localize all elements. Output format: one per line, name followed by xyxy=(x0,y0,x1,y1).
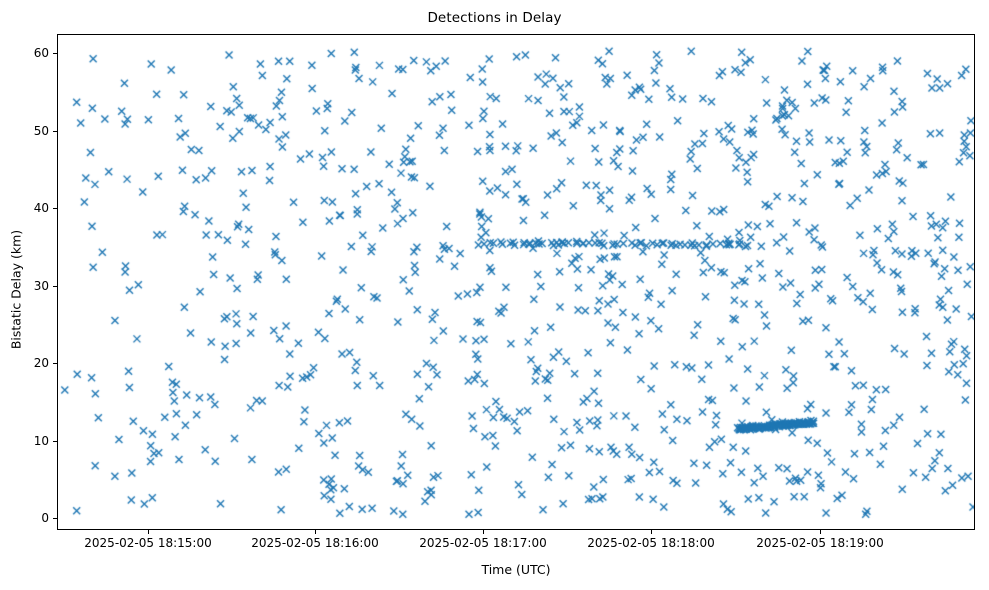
y-axis-tick-label: 0 xyxy=(41,511,49,525)
x-axis-tick-mark xyxy=(315,530,316,534)
x-axis-tick-label: 2025-02-05 18:16:00 xyxy=(251,536,378,550)
x-axis-tick-label: 2025-02-05 18:17:00 xyxy=(419,536,546,550)
x-axis-label: Time (UTC) xyxy=(57,562,975,577)
y-axis-tick-label: 10 xyxy=(34,434,49,448)
page-title: Detections in Delay xyxy=(0,10,989,26)
scatter-plot-figure: Detections in Delay Bistatic Delay (km) … xyxy=(0,0,989,590)
x-axis-tick-mark xyxy=(651,530,652,534)
x-axis-tick-label: 2025-02-05 18:19:00 xyxy=(756,536,883,550)
x-axis-tick-mark xyxy=(483,530,484,534)
y-axis-tick-label: 40 xyxy=(34,201,49,215)
x-axis-tick-mark xyxy=(820,530,821,534)
y-axis-tick-label: 50 xyxy=(34,124,49,138)
y-axis-tick-label: 30 xyxy=(34,279,49,293)
y-axis-tick-labels: 0102030405060 xyxy=(0,34,49,530)
x-axis-tick-mark xyxy=(148,530,149,534)
plot-axes-area xyxy=(57,34,975,530)
scatter-points-layer xyxy=(58,35,975,530)
x-axis-tick-label: 2025-02-05 18:18:00 xyxy=(587,536,714,550)
y-axis-tick-label: 60 xyxy=(34,46,49,60)
x-axis-tick-label: 2025-02-05 18:15:00 xyxy=(84,536,211,550)
y-axis-tick-label: 20 xyxy=(34,356,49,370)
